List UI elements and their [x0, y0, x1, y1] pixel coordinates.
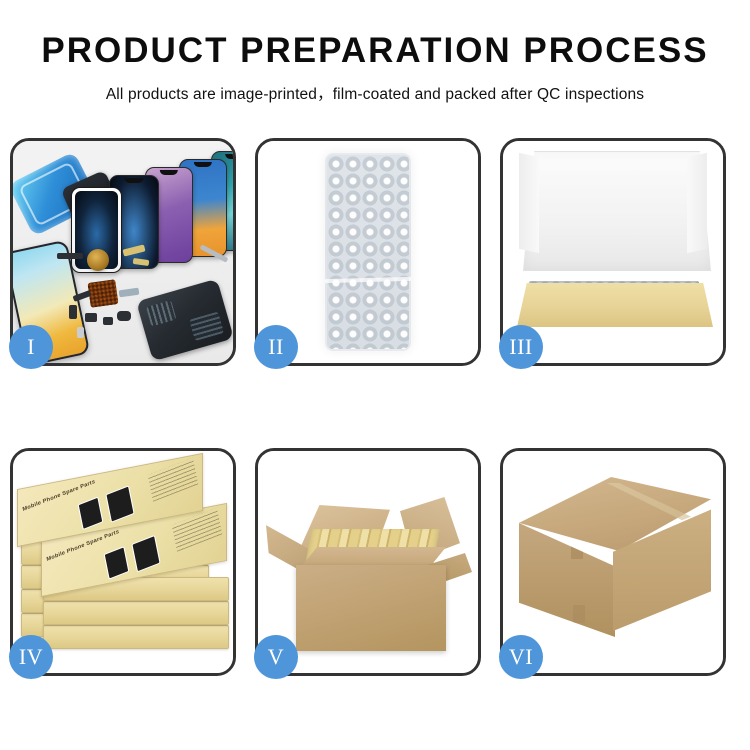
box-lid-flap-left	[519, 153, 539, 253]
box-lid-flap-right	[687, 153, 707, 253]
part-connector-icon-6	[119, 288, 140, 298]
step-5-image	[258, 451, 478, 673]
carton-tab-lower	[573, 605, 585, 623]
stacked-box-right-3	[43, 625, 229, 649]
step-badge-1: I	[9, 325, 53, 369]
part-connector-icon-2	[69, 305, 77, 319]
step-badge-4: IV	[9, 635, 53, 679]
box-tray-icon	[517, 283, 713, 327]
box-stack: Mobile Phone Spare Parts Mobile Phone Sp…	[15, 467, 233, 663]
stacked-box-right-2	[43, 601, 229, 625]
step-panel-3: III	[500, 138, 726, 366]
step-panel-1: I	[10, 138, 236, 366]
part-strip-icon	[57, 253, 83, 259]
box-lid-icon	[523, 151, 711, 271]
part-screw-icon-1	[77, 327, 84, 338]
phone-chassis-icon	[136, 279, 233, 362]
step-panel-5: V	[255, 448, 481, 676]
speaker-part-icon	[87, 249, 109, 271]
box-spec-lines-1	[148, 458, 198, 502]
step-3-image	[503, 141, 723, 363]
circuit-board-part-icon	[87, 279, 118, 308]
step-badge-3: III	[499, 325, 543, 369]
step-2-image	[258, 141, 478, 363]
box-phone-graphic-3	[104, 546, 130, 580]
wallpaper-pattern-icon	[77, 205, 115, 255]
bubble-wrap-icon	[325, 153, 411, 351]
step-badge-6: VI	[499, 635, 543, 679]
step-panel-2: II	[255, 138, 481, 366]
carton-front-face	[296, 565, 446, 651]
step-4-image: Mobile Phone Spare Parts Mobile Phone Sp…	[13, 451, 233, 673]
step-6-image	[503, 451, 723, 673]
carton-sealed	[519, 477, 711, 649]
box-phone-graphic-4	[131, 535, 160, 572]
carton-tab-upper	[571, 541, 583, 559]
box-phone-graphic-2	[105, 485, 134, 522]
step-panel-4: Mobile Phone Spare Parts Mobile Phone Sp…	[10, 448, 236, 676]
bubble-pattern	[327, 155, 409, 349]
step-badge-2: II	[254, 325, 298, 369]
header: PRODUCT PREPARATION PROCESS All products…	[0, 0, 750, 104]
page-subtitle: All products are image-printed，film-coat…	[0, 82, 750, 104]
step-panel-6: VI	[500, 448, 726, 676]
carton-body-open	[296, 565, 446, 651]
page-title: PRODUCT PREPARATION PROCESS	[0, 32, 750, 71]
part-connector-icon-4	[103, 317, 113, 325]
part-connector-icon-3	[85, 313, 97, 322]
box-phone-graphic-1	[78, 497, 104, 531]
step-1-image	[13, 141, 233, 363]
part-connector-icon-5	[117, 311, 131, 321]
step-badge-5: V	[254, 635, 298, 679]
product-preparation-process-infographic: PRODUCT PREPARATION PROCESS All products…	[0, 0, 750, 750]
steps-grid: I II III	[10, 138, 740, 676]
